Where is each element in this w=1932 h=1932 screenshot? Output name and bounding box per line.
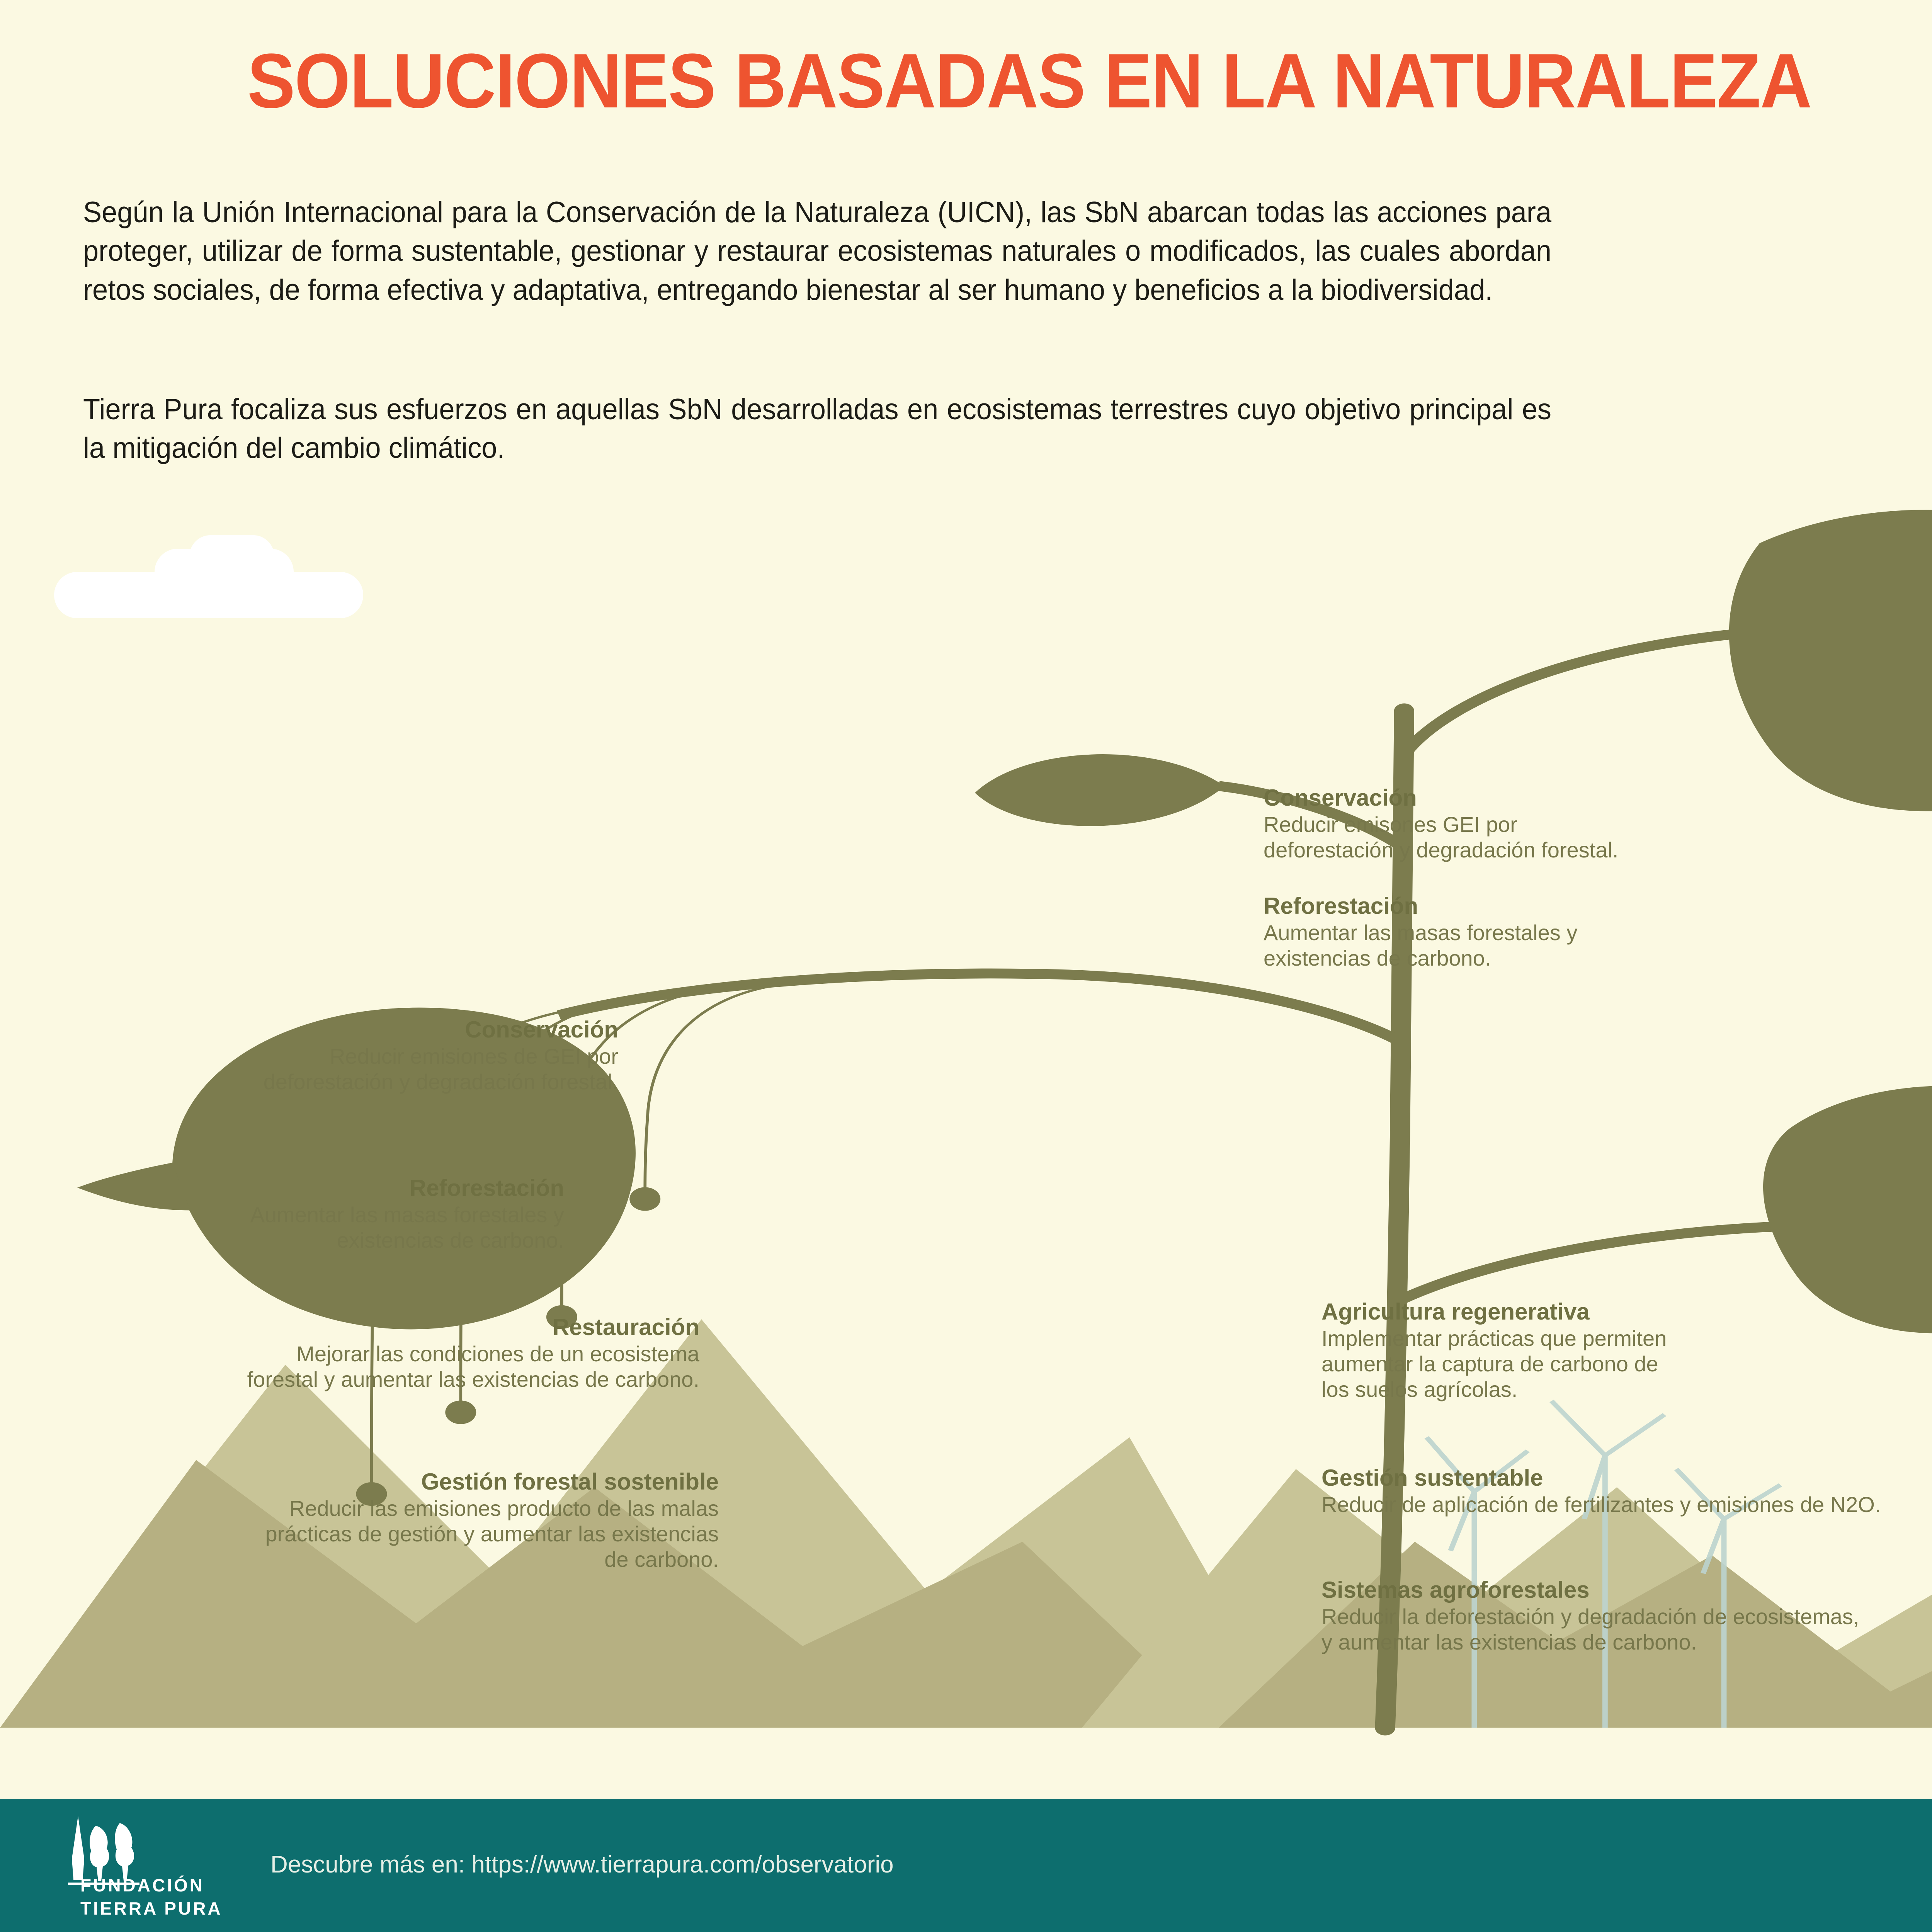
leaf-label-otros-ecosistemas[interactable]: OTROS ECOSISTEMAS NATURALES [1217, 641, 1497, 698]
node-otros-reforestacion[interactable]: Reforestación Aumentar las masas foresta… [1264, 893, 1920, 971]
node-otros-conservacion[interactable]: Conservación Reducir emisones GEI por de… [1264, 784, 1920, 863]
node-desc: Reducir la deforestación y degradación d… [1321, 1604, 1932, 1655]
page-title: SOLUCIONES BASADAS EN LA NATURALEZA [247, 43, 1649, 120]
node-desc: Implementar prácticas que permiten aumen… [1321, 1326, 1932, 1402]
node-desc: Reducir las emisiones producto de las ma… [12, 1496, 719, 1572]
node-title: Gestión sustentable [1321, 1464, 1932, 1492]
infographic-root: SOLUCIONES BASADAS EN LA NATURALEZA Segú… [0, 0, 1932, 1932]
logo-text-line2: TIERRA PURA [80, 1898, 223, 1919]
logo-text-line1: FUNDACIÓN [80, 1875, 204, 1896]
node-agricultura-regenerativa[interactable]: Agricultura regenerativa Implementar prá… [1321, 1298, 1932, 1402]
node-title: Reforestación [1264, 893, 1920, 920]
node-desc: Aumentar las masas forestales y existenc… [31, 1202, 564, 1253]
leaf-shape-small [975, 754, 1225, 826]
node-forestal-gestion[interactable]: Gestión forestal sostenible Reducir las … [12, 1468, 719, 1572]
node-title: Conservación [31, 1016, 618, 1044]
node-desc: Reducir emisiones de GEI por deforestaci… [31, 1044, 618, 1095]
node-title: Conservación [1264, 784, 1920, 812]
node-title: Agricultura regenerativa [1321, 1298, 1932, 1326]
intro-paragraph-1: Según la Unión Internacional para la Con… [83, 193, 1551, 310]
node-forestal-restauracion[interactable]: Restauración Mejorar las condiciones de … [12, 1314, 699, 1392]
node-title: Sistemas agroforestales [1321, 1577, 1932, 1604]
footer-url[interactable]: Descubre más en: https://www.tierrapura.… [270, 1851, 894, 1878]
node-title: Gestión forestal sostenible [12, 1468, 719, 1496]
node-desc: Reducir de aplicación de fertilizantes y… [1321, 1492, 1932, 1517]
node-desc: Reducir emisones GEI por deforestación y… [1264, 812, 1920, 863]
node-desc: Aumentar las masas forestales y existenc… [1264, 920, 1920, 971]
node-agricultura-gestion[interactable]: Gestión sustentable Reducir de aplicació… [1321, 1464, 1932, 1517]
node-forestal-reforestacion[interactable]: Reforestación Aumentar las masas foresta… [31, 1175, 564, 1253]
node-title: Reforestación [31, 1175, 564, 1202]
leaf-label-agricultura[interactable]: AGRICULTURA [1459, 1117, 1641, 1145]
node-forestal-conservacion[interactable]: Conservación Reducir emisiones de GEI po… [31, 1016, 618, 1095]
node-agricultura-agroforestales[interactable]: Sistemas agroforestales Reducir la defor… [1321, 1577, 1932, 1655]
intro-paragraph-2: Tierra Pura focaliza sus esfuerzos en aq… [83, 390, 1551, 468]
node-desc: Mejorar las condiciones de un ecosistema… [12, 1341, 699, 1392]
leaf-shape-agricultura [1763, 1086, 1932, 1333]
node-title: Restauración [12, 1314, 699, 1341]
leaf-shape-otros [1729, 510, 1932, 811]
leaf-label-forestal[interactable]: FORESTAL [209, 838, 342, 867]
